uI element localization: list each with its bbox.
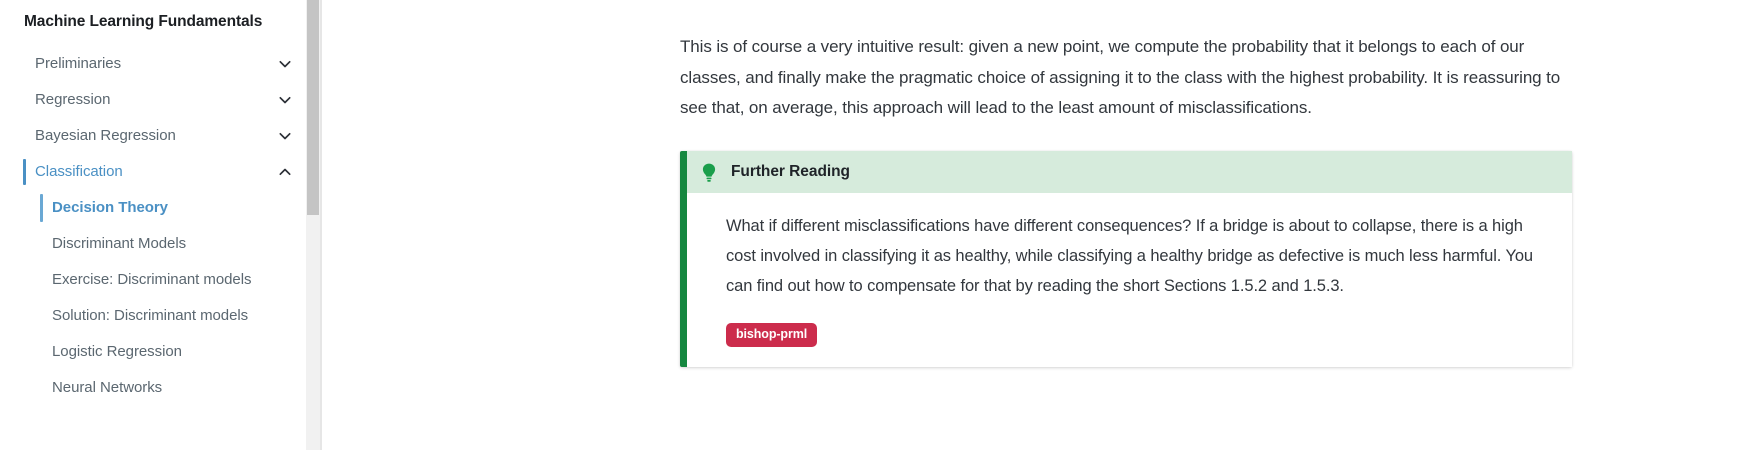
sidebar-item-regression[interactable]: Regression xyxy=(0,82,306,118)
sidebar-subitem-decision-theory[interactable]: Decision Theory xyxy=(0,190,306,226)
callout-body: What if different misclassifications hav… xyxy=(687,193,1572,367)
intro-paragraph: This is of course a very intuitive resul… xyxy=(680,32,1568,124)
page-root: Machine Learning Fundamentals Preliminar… xyxy=(0,0,1739,450)
sidebar-subitem-label: Exercise: Discriminant models xyxy=(52,262,251,298)
sidebar-item-bayesian-regression[interactable]: Bayesian Regression xyxy=(0,118,306,154)
sidebar-subitem-label: Discriminant Models xyxy=(52,226,186,262)
sidebar-subitem-discriminant-models[interactable]: Discriminant Models xyxy=(0,226,306,262)
sidebar-item-classification[interactable]: Classification xyxy=(0,154,306,190)
sidebar-item-list: Preliminaries Regression xyxy=(0,46,306,406)
sidebar-title: Machine Learning Fundamentals xyxy=(0,8,306,33)
further-reading-callout: Further Reading What if different miscla… xyxy=(680,151,1572,367)
callout-header: Further Reading xyxy=(687,151,1572,193)
sidebar-nav: Machine Learning Fundamentals Preliminar… xyxy=(0,0,306,450)
chevron-down-icon[interactable] xyxy=(278,57,292,71)
sidebar-item-label: Bayesian Regression xyxy=(35,118,176,154)
sidebar-subitem-logistic-regression[interactable]: Logistic Regression xyxy=(0,334,306,370)
sidebar-subitem-solution-discriminant-models[interactable]: Solution: Discriminant models xyxy=(0,298,306,334)
main-content: This is of course a very intuitive resul… xyxy=(322,0,1739,450)
sidebar-scrollbar[interactable] xyxy=(306,0,320,450)
sidebar-subitem-label: Neural Networks xyxy=(52,370,162,406)
chevron-up-icon[interactable] xyxy=(278,165,292,179)
chevron-down-icon[interactable] xyxy=(278,93,292,107)
callout-text: What if different misclassifications hav… xyxy=(726,211,1536,301)
sidebar-item-label: Regression xyxy=(35,82,110,118)
sidebar-item-label: Preliminaries xyxy=(35,46,121,82)
sidebar-item-label: Classification xyxy=(35,154,123,190)
sidebar-subitem-label: Logistic Regression xyxy=(52,334,182,370)
callout-title: Further Reading xyxy=(731,163,850,181)
chevron-down-icon[interactable] xyxy=(278,129,292,143)
sidebar-subitem-neural-networks[interactable]: Neural Networks xyxy=(0,370,306,406)
lightbulb-icon xyxy=(699,161,719,183)
bishop-prml-badge[interactable]: bishop-prml xyxy=(726,323,817,347)
sidebar-subitem-label: Decision Theory xyxy=(52,190,168,226)
badge-row: bishop-prml xyxy=(726,323,1538,347)
sidebar-subitem-label: Solution: Discriminant models xyxy=(52,298,248,334)
sidebar-scrollbar-thumb[interactable] xyxy=(307,0,319,215)
sidebar-subitem-exercise-discriminant-models[interactable]: Exercise: Discriminant models xyxy=(0,262,306,298)
sidebar: Machine Learning Fundamentals Preliminar… xyxy=(0,0,322,450)
sidebar-item-preliminaries[interactable]: Preliminaries xyxy=(0,46,306,82)
